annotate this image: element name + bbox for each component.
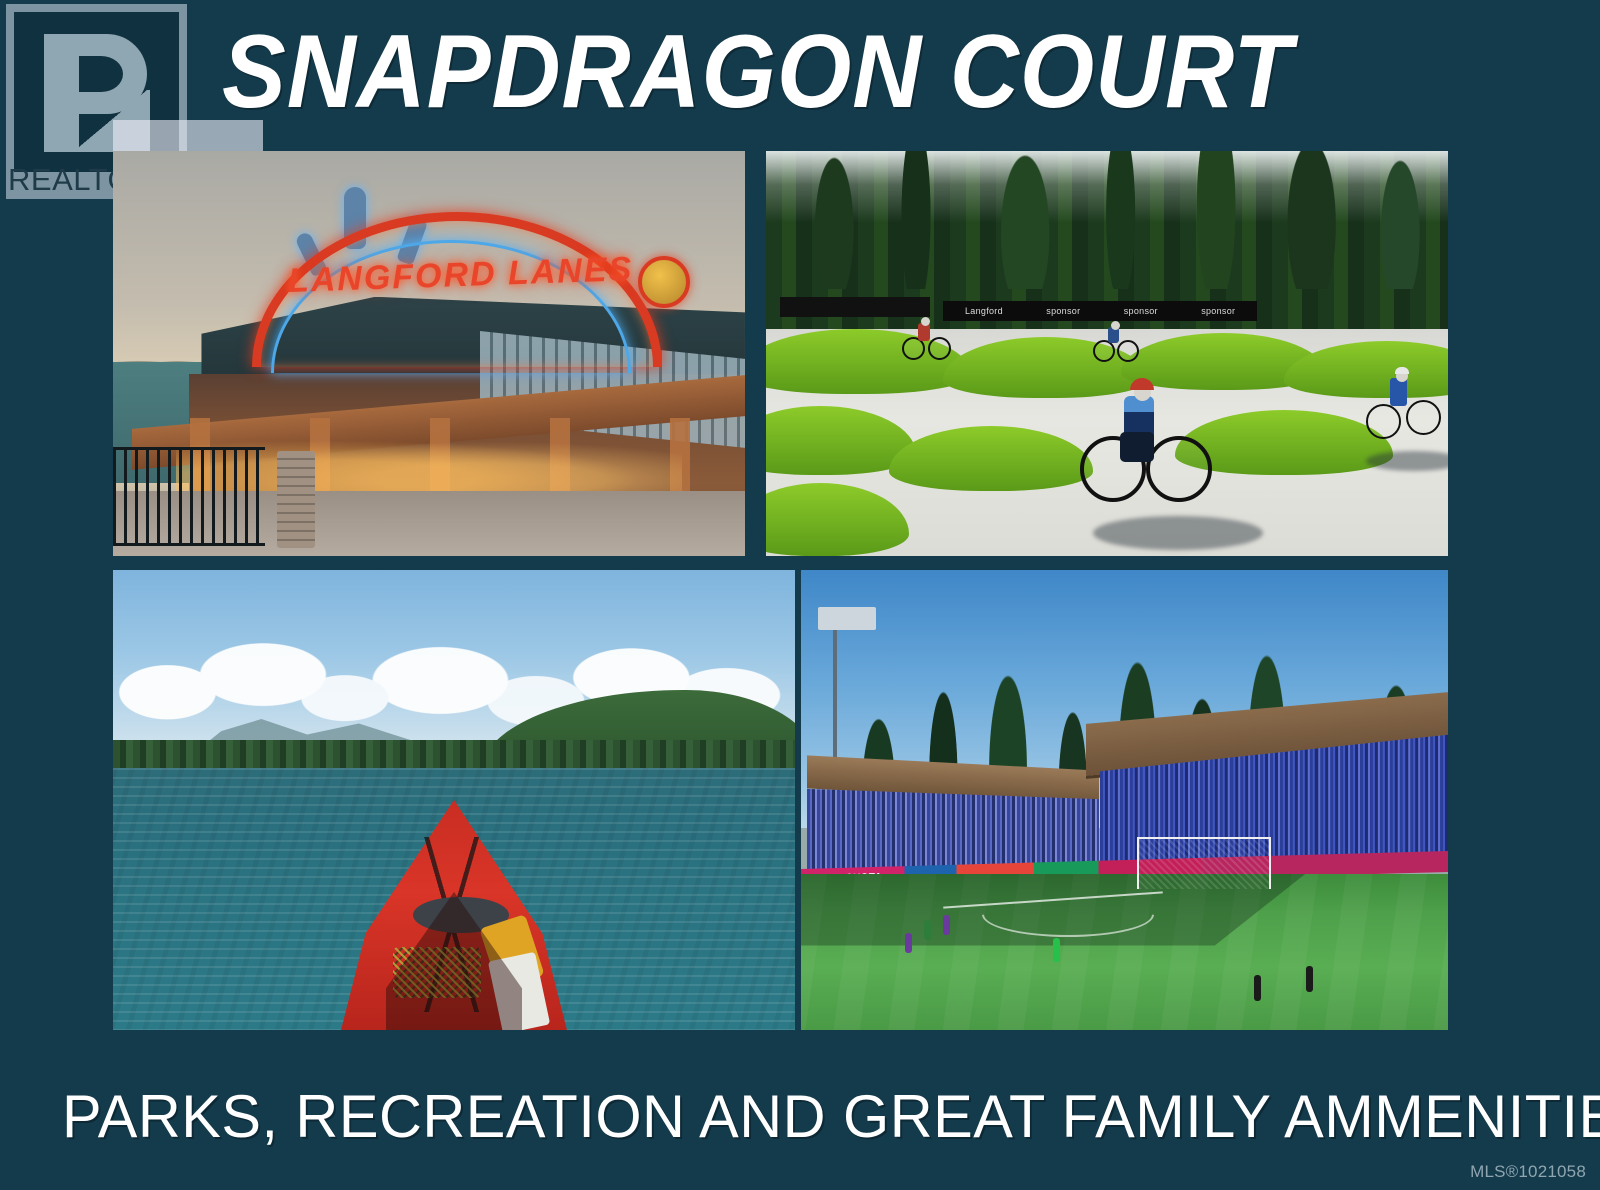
sponsor-logo-2: sponsor xyxy=(1046,306,1080,316)
sponsor-logo-3: sponsor xyxy=(1124,306,1158,316)
sign-badge-icon xyxy=(638,256,690,308)
rider-legs xyxy=(1120,432,1154,462)
bike-wheel xyxy=(1093,340,1115,362)
rider-head xyxy=(1111,321,1120,330)
soccer-scene: CIBC TOYOTA xyxy=(801,570,1448,1030)
mls-number: MLS®1021058 xyxy=(1470,1162,1586,1182)
soccer-pitch xyxy=(801,874,1448,1030)
helmet xyxy=(1395,367,1409,374)
track-barrier-left xyxy=(780,297,930,317)
bowling-scene: LANGFORD LANES xyxy=(113,151,745,556)
helmet xyxy=(1130,378,1154,390)
bike-wheel xyxy=(1117,340,1139,362)
r-leg xyxy=(76,90,150,152)
photo-kayak-lake[interactable] xyxy=(113,570,795,1030)
rider-shadow xyxy=(1366,451,1448,471)
pumptrack-scene: Langford sponsor sponsor sponsor xyxy=(766,151,1448,556)
kayak-scene xyxy=(113,570,795,1030)
floodlight-icon xyxy=(818,607,876,630)
sponsor-logo-4: sponsor xyxy=(1201,306,1235,316)
cyclist xyxy=(1366,370,1436,440)
cyclist-foreground xyxy=(1080,374,1208,500)
bike-wheel xyxy=(1146,436,1212,502)
slide-caption: PARKS, RECREATION AND GREAT FAMILY AMMEN… xyxy=(62,1080,1527,1154)
bike-wheel xyxy=(1366,404,1401,439)
cyclist xyxy=(1093,321,1137,361)
iron-gate xyxy=(113,447,265,546)
realtor-r-mark xyxy=(14,12,179,172)
player-goalkeeper-green xyxy=(1053,938,1060,962)
photo-bowling-alley[interactable]: LANGFORD LANES xyxy=(113,151,745,556)
player-goalkeeper xyxy=(924,920,931,940)
rider-shadow xyxy=(1093,516,1263,550)
stone-pillar xyxy=(277,451,315,548)
bike-wheel xyxy=(928,337,951,360)
cyclist xyxy=(902,317,950,359)
r-bowl-counter xyxy=(79,56,123,92)
r-stem xyxy=(44,34,79,152)
rider-torso xyxy=(1390,378,1407,406)
sponsor-banner: Langford sponsor sponsor sponsor xyxy=(943,301,1257,321)
photo-bike-pump-track[interactable]: Langford sponsor sponsor sponsor xyxy=(766,151,1448,556)
player-dark xyxy=(1254,975,1261,1001)
player-purple xyxy=(905,933,912,953)
listing-photo-slide: REALTOR® SNAPDRAGON COURT LANGFORD LANES xyxy=(0,0,1600,1190)
tree-canopy xyxy=(766,151,1448,289)
goal-net xyxy=(1137,837,1270,890)
bike-wheel xyxy=(1406,400,1441,435)
sponsor-logo-1: Langford xyxy=(965,306,1003,316)
player-purple xyxy=(943,915,950,935)
page-title: SNAPDRAGON COURT xyxy=(222,14,1262,130)
photo-soccer-stadium[interactable]: CIBC TOYOTA xyxy=(801,570,1448,1030)
player-dark xyxy=(1306,966,1313,992)
